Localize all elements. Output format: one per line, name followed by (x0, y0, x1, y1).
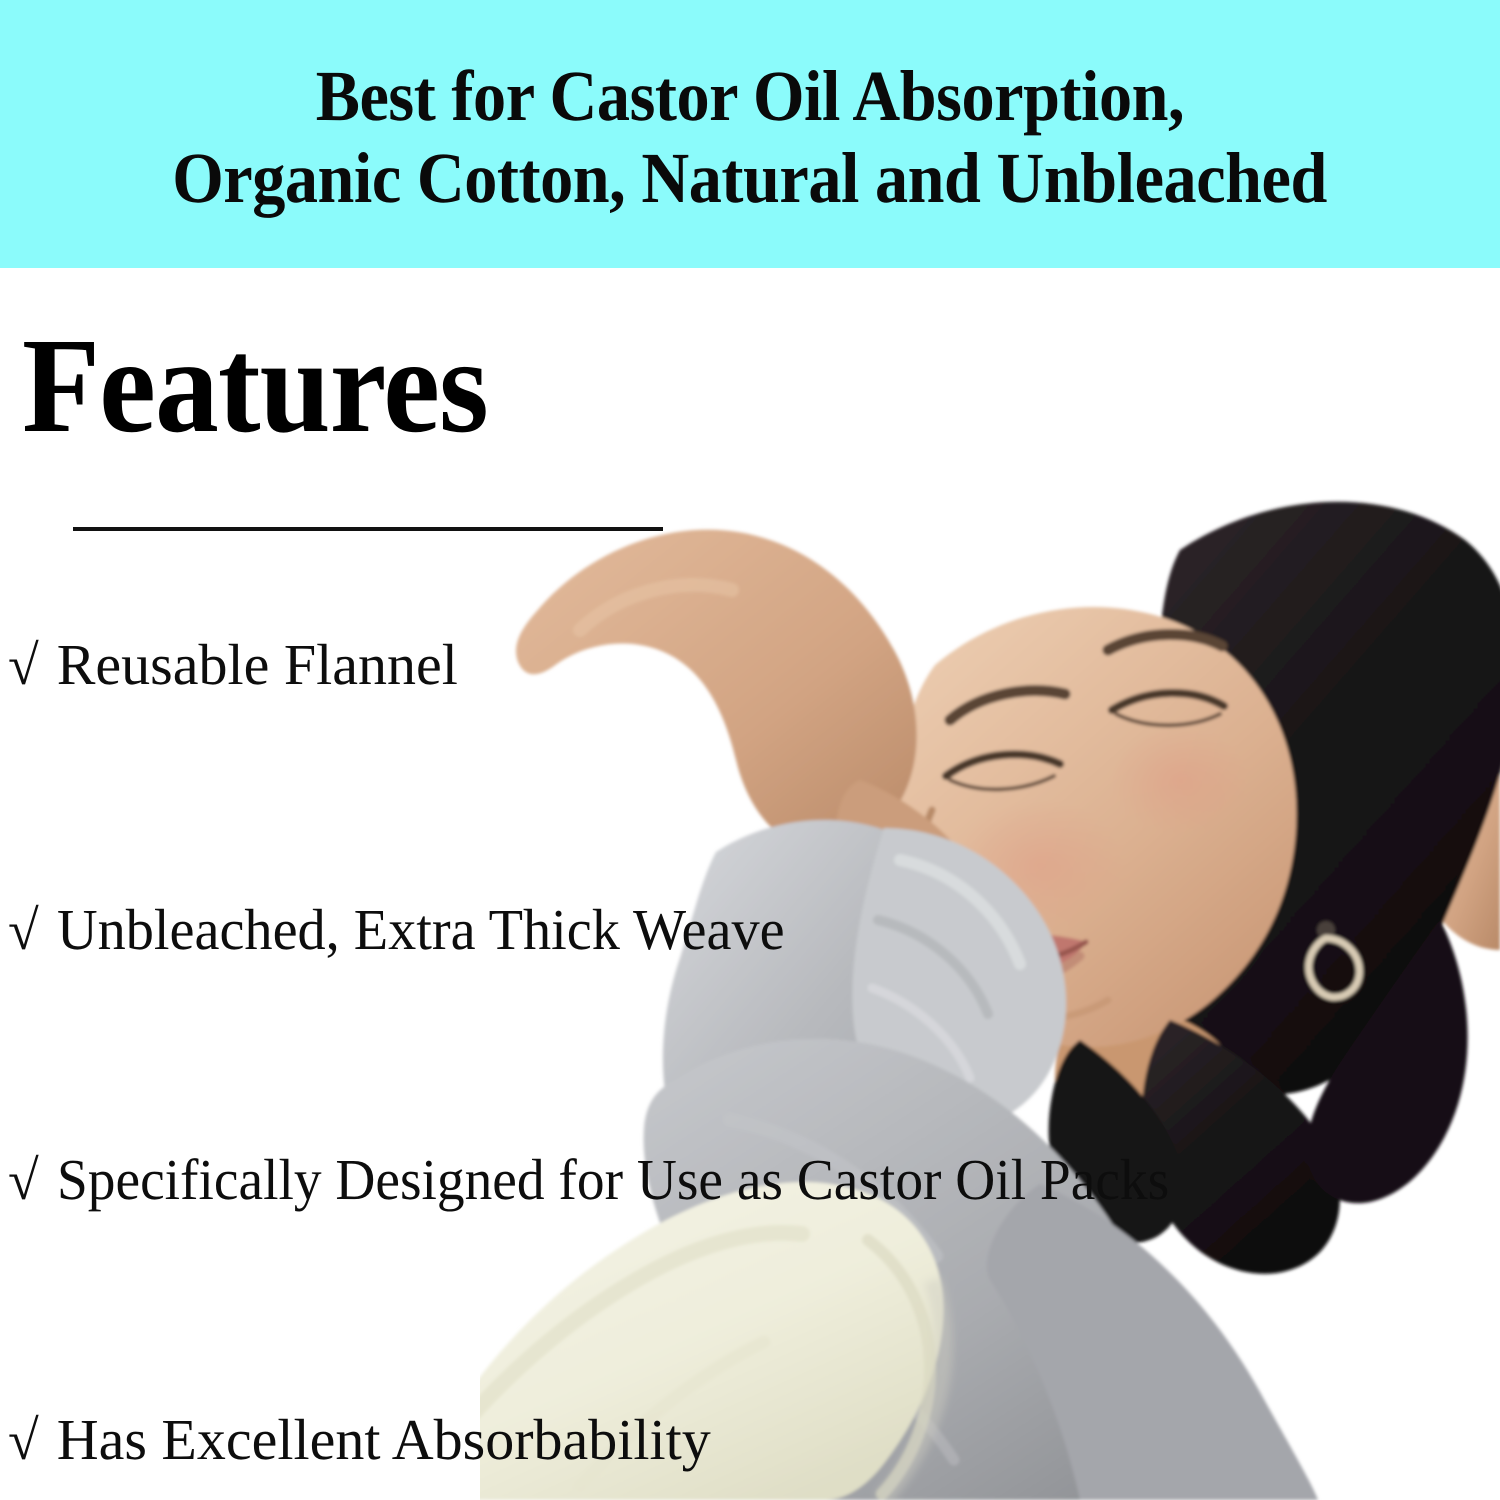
check-icon: √ (8, 1153, 39, 1209)
feature-item: √ Unbleached, Extra Thick Weave (8, 901, 807, 959)
product-infographic: Best for Castor Oil Absorption, Organic … (0, 0, 1500, 1500)
features-list: √ Reusable Flannel √ Unbleached, Extra T… (0, 0, 1500, 1500)
check-icon: √ (8, 903, 39, 959)
feature-label: Unbleached, Extra Thick Weave (57, 901, 785, 959)
feature-item: √ Reusable Flannel (8, 636, 458, 694)
feature-item: √ Specifically Designed for Use as Casto… (8, 1151, 1221, 1209)
feature-label: Has Excellent Absorbability (57, 1411, 711, 1469)
feature-item: √ Has Excellent Absorbability (8, 1411, 711, 1469)
feature-label: Reusable Flannel (57, 636, 458, 694)
feature-label: Specifically Designed for Use as Castor … (57, 1151, 1169, 1209)
check-icon: √ (8, 1413, 39, 1469)
check-icon: √ (8, 638, 39, 694)
